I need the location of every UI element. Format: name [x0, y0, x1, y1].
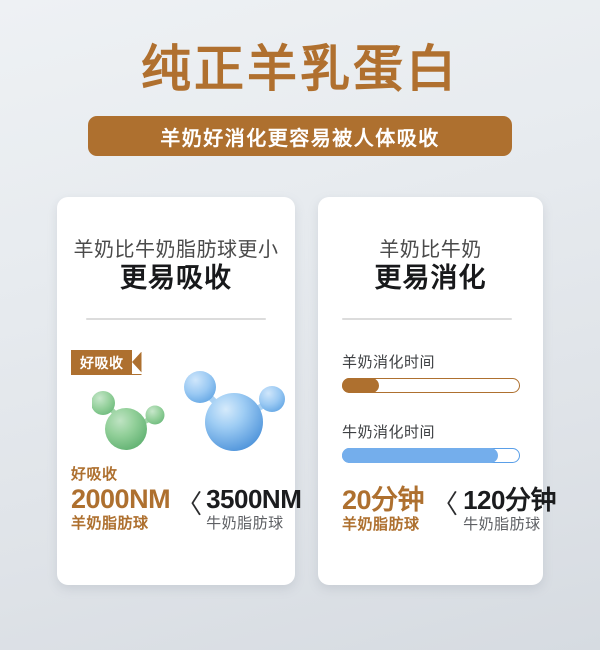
good-absorption-ribbon-label: 好吸收	[80, 353, 124, 373]
card-right-title: 更易消化	[318, 262, 543, 295]
cow-milk-digestion-bar-label: 牛奶消化时间	[342, 421, 435, 442]
digestion-cow: 120分钟 牛奶脂肪球	[463, 485, 556, 534]
card-right-comparison: 20分钟 羊奶脂肪球 〈 120分钟 牛奶脂肪球	[342, 485, 556, 534]
comparison-cow: 3500NM 牛奶脂肪球	[206, 484, 301, 533]
comparison-goat-eyebrow: 好吸收	[71, 465, 170, 484]
subtitle-banner: 羊奶好消化更容易被人体吸收	[88, 116, 512, 156]
digestion-cow-value: 120分钟	[463, 485, 556, 515]
less-than-icon: 〈	[176, 489, 202, 519]
card-left-title: 更易吸收	[57, 262, 295, 295]
digestion-goat-value: 20分钟	[342, 485, 424, 515]
goat-milk-fat-globule-icon	[92, 383, 170, 455]
card-right-divider	[342, 318, 512, 320]
less-than-icon: 〈	[432, 489, 458, 519]
promo-page: 纯正羊乳蛋白 羊奶好消化更容易被人体吸收 羊奶比牛奶脂肪球更小 更易吸收 好吸收	[0, 0, 600, 650]
digestion-cow-caption: 牛奶脂肪球	[463, 515, 556, 534]
cow-milk-digestion-bar-fill	[342, 448, 498, 463]
card-right-subtitle: 羊奶比牛奶	[318, 237, 543, 263]
subtitle-banner-label: 羊奶好消化更容易被人体吸收	[160, 122, 440, 151]
page-title: 纯正羊乳蛋白	[0, 40, 600, 98]
comparison-goat: 好吸收 2000NM 羊奶脂肪球	[71, 465, 170, 533]
goat-milk-digestion-bar-label: 羊奶消化时间	[342, 351, 435, 372]
comparison-cow-value: 3500NM	[206, 484, 301, 514]
goat-milk-digestion-bar	[342, 378, 520, 393]
cow-milk-fat-globule-icon	[183, 366, 287, 458]
card-left-subtitle: 羊奶比牛奶脂肪球更小	[57, 237, 295, 263]
digestion-goat-caption: 羊奶脂肪球	[342, 515, 424, 534]
card-absorption: 羊奶比牛奶脂肪球更小 更易吸收 好吸收	[57, 197, 295, 585]
card-digestion: 羊奶比牛奶 更易消化 羊奶消化时间 牛奶消化时间 20分钟 羊奶脂肪球 〈 12…	[318, 197, 543, 585]
digestion-goat: 20分钟 羊奶脂肪球	[342, 485, 424, 534]
comparison-cow-caption: 牛奶脂肪球	[206, 514, 301, 533]
card-left-divider	[86, 318, 266, 320]
comparison-goat-value: 2000NM	[71, 484, 170, 514]
comparison-goat-caption: 羊奶脂肪球	[71, 514, 170, 533]
cow-milk-digestion-bar	[342, 448, 520, 463]
card-left-comparison: 好吸收 2000NM 羊奶脂肪球 〈 3500NM 牛奶脂肪球	[71, 465, 301, 533]
goat-milk-digestion-bar-fill	[342, 378, 379, 393]
good-absorption-ribbon: 好吸收	[71, 350, 142, 375]
